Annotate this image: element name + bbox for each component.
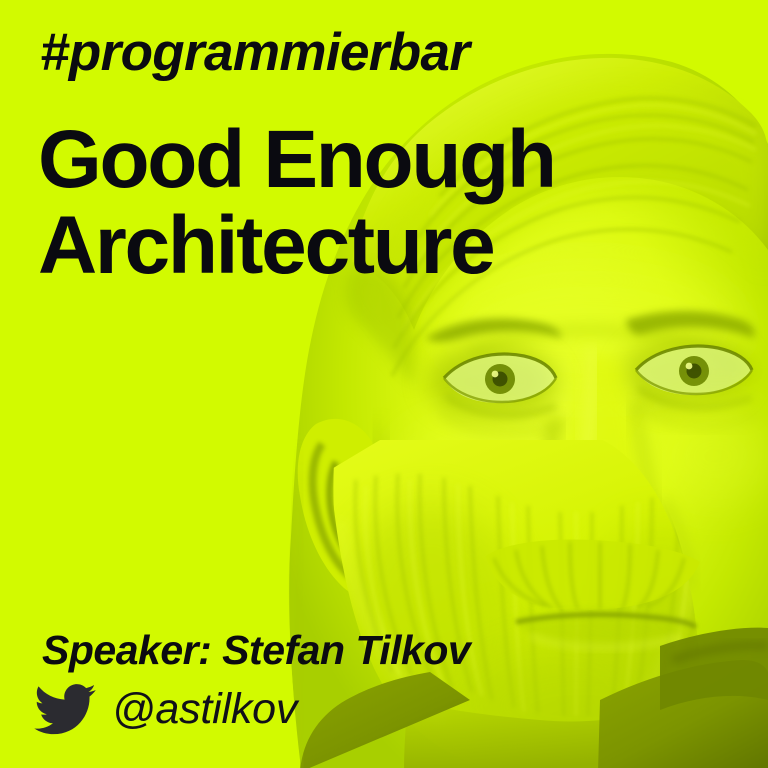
twitter-handle-row[interactable]: @astilkov	[34, 683, 297, 735]
twitter-handle-text[interactable]: @astilkov	[112, 685, 297, 734]
episode-title-line-1: Good Enough	[38, 117, 555, 203]
episode-title-line-2: Architecture	[38, 203, 555, 289]
twitter-bird-icon[interactable]	[34, 683, 96, 735]
speaker-label: Speaker: Stefan Tilkov	[42, 627, 470, 674]
brand-hashtag: #programmierbar	[40, 25, 469, 81]
episode-title: Good Enough Architecture	[38, 117, 555, 288]
episode-cover: #programmierbar Good Enough Architecture…	[0, 0, 768, 768]
